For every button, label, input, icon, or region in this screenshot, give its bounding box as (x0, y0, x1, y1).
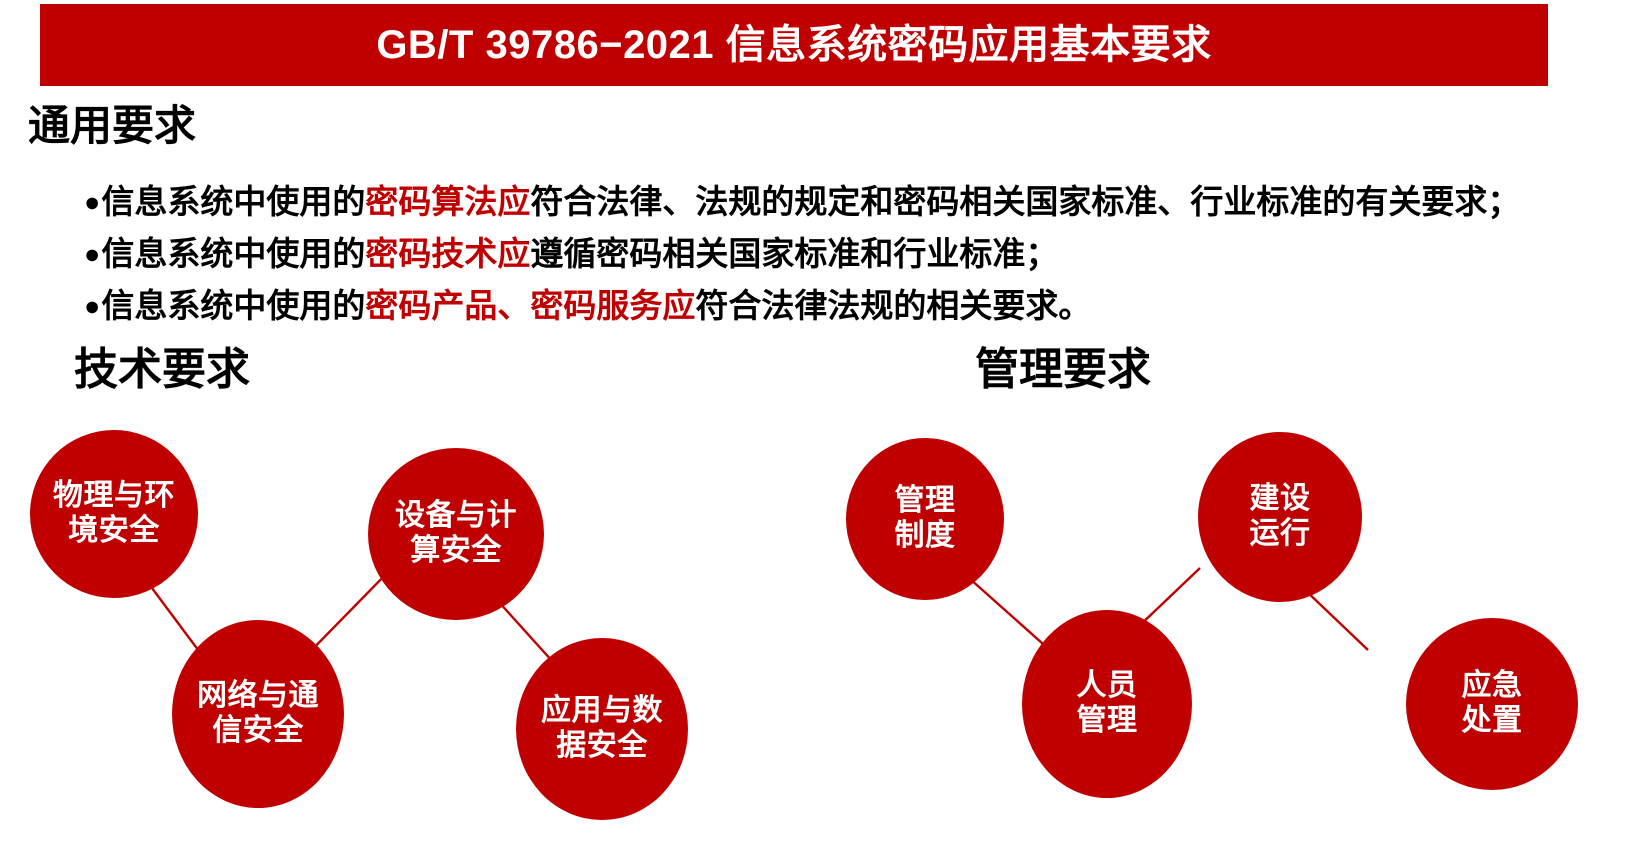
node-physical-environment-security[interactable]: 物理与环境安全 (30, 430, 198, 598)
management-requirements-diagram: 管理制度 建设运行 人员管理 应急处置 (820, 410, 1652, 851)
general-requirements-bullets: ●信息系统中使用的密码算法应符合法律、法规的规定和密码相关国家标准、行业标准的有… (84, 176, 1644, 332)
bullet-item-2: ●信息系统中使用的密码技术应遵循密码相关国家标准和行业标准； (84, 228, 1644, 280)
node-emergency-response[interactable]: 应急处置 (1406, 618, 1578, 790)
bullet-1-part-1: 信息系统中使用的 (101, 183, 365, 220)
node-management-system[interactable]: 管理制度 (846, 438, 1004, 600)
bullet-2-part-2-highlight: 密码技术应 (365, 235, 530, 272)
node-device-computing-security[interactable]: 设备与计算安全 (368, 448, 544, 620)
bullet-2-part-3: 遵循密码相关国家标准和行业标准； (530, 235, 1058, 272)
node-personnel-management[interactable]: 人员管理 (1022, 610, 1192, 798)
management-requirements-heading: 管理要求 (975, 348, 1151, 392)
technical-requirements-heading: 技术要求 (74, 348, 250, 392)
bullet-dot-icon: ● (84, 291, 100, 321)
bullet-1-part-2-highlight: 密码算法应 (365, 183, 530, 220)
bullet-dot-icon: ● (84, 239, 100, 269)
node-application-data-security[interactable]: 应用与数据安全 (516, 638, 688, 820)
bullet-item-3: ●信息系统中使用的密码产品、密码服务应符合法律法规的相关要求。 (84, 280, 1644, 332)
general-requirements-heading: 通用要求 (28, 104, 196, 148)
node-label: 设备与计算安全 (389, 499, 523, 569)
node-label: 应用与数据安全 (535, 694, 669, 764)
node-label: 物理与环境安全 (47, 479, 181, 549)
bullet-3-part-2-highlight: 密码产品、密码服务应 (365, 287, 695, 324)
node-network-communication-security[interactable]: 网络与通信安全 (172, 620, 344, 808)
bullet-3-part-3: 符合法律法规的相关要求。 (695, 287, 1091, 324)
technical-requirements-diagram: 物理与环境安全 设备与计算安全 网络与通信安全 应用与数据安全 (0, 410, 760, 851)
bullet-item-1: ●信息系统中使用的密码算法应符合法律、法规的规定和密码相关国家标准、行业标准的有… (84, 176, 1644, 228)
node-label: 网络与通信安全 (191, 679, 325, 749)
bullet-1-part-3: 符合法律、法规的规定和密码相关国家标准、行业标准的有关要求； (530, 183, 1520, 220)
node-construction-operation[interactable]: 建设运行 (1198, 432, 1362, 602)
page-title: GB/T 39786−2021 信息系统密码应用基本要求 (376, 25, 1211, 65)
bullet-dot-icon: ● (84, 187, 100, 217)
node-label: 管理制度 (889, 484, 962, 554)
bullet-2-part-1: 信息系统中使用的 (101, 235, 365, 272)
title-banner: GB/T 39786−2021 信息系统密码应用基本要求 (40, 4, 1548, 86)
slide-root: GB/T 39786−2021 信息系统密码应用基本要求 通用要求 ●信息系统中… (0, 0, 1652, 851)
node-label: 应急处置 (1456, 669, 1529, 739)
node-label: 人员管理 (1071, 669, 1144, 739)
bullet-3-part-1: 信息系统中使用的 (101, 287, 365, 324)
node-label: 建设运行 (1244, 482, 1317, 552)
